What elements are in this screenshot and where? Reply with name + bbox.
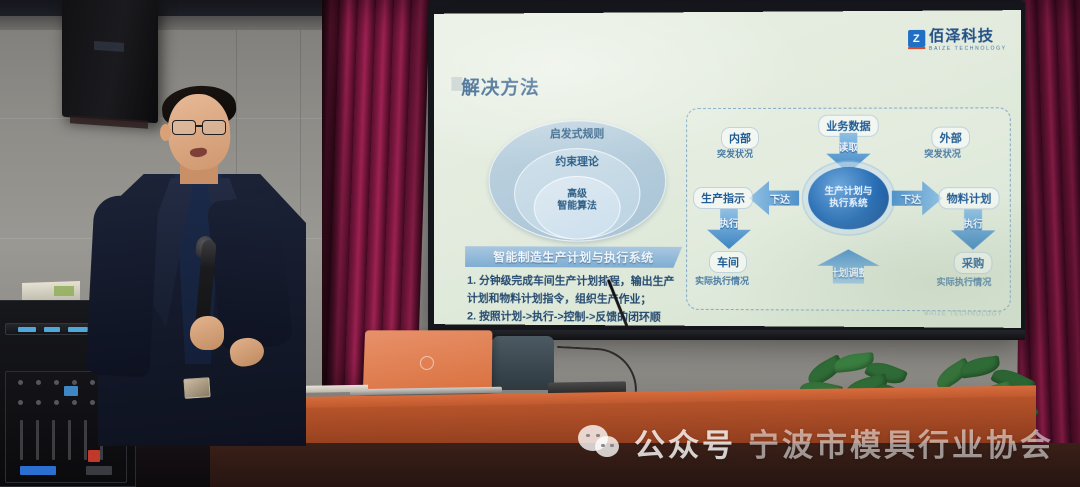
slide-title: 解决方法 xyxy=(461,73,539,100)
presenter-ear xyxy=(160,124,171,141)
slide-content: 解决方法 Z 佰泽科技 BAIZE TECHNOLOGY 启发式规则 约束理论 … xyxy=(434,10,1021,328)
logo-mark-icon: Z xyxy=(908,30,925,47)
flow-node-workshop: 车间 xyxy=(709,251,747,273)
logo-name-en: BAIZE TECHNOLOGY xyxy=(929,46,1007,52)
dell-logo-icon xyxy=(420,356,434,370)
green-item xyxy=(54,286,74,296)
flow-node-internal: 内部 xyxy=(721,127,759,149)
flow-arrow-plan-adjust: 计划调整 xyxy=(817,249,880,283)
logo-name-cn: 佰泽科技 xyxy=(929,27,994,45)
bullet-line: 1. 分钟级完成车间生产计划排程，输出生产 xyxy=(467,273,682,292)
flow-sub-external: 突发状况 xyxy=(924,147,961,160)
presenter-arm-left xyxy=(85,194,158,377)
chair-back xyxy=(492,336,554,390)
flow-center-node: 生产计划与 执行系统 xyxy=(808,167,889,229)
flow-node-production-instruction: 生产指示 xyxy=(693,187,753,209)
flow-node-purchasing: 采购 xyxy=(954,252,993,274)
led-indicator xyxy=(44,327,60,332)
flow-sub-purchasing: 实际执行情况 xyxy=(936,275,991,288)
laptop xyxy=(363,330,493,392)
flow-arrow-execute-left: 执行 xyxy=(707,209,751,249)
flow-sub-workshop: 实际执行情况 xyxy=(695,274,749,287)
concentric-circles-diagram: 启发式规则 约束理论 高级 智能算法 xyxy=(489,120,667,242)
circle-middle-label: 约束理论 xyxy=(555,149,598,169)
circle-outer-label: 启发式规则 xyxy=(550,121,604,141)
slide-corner-watermark: BAIZE TECHNOLOGY xyxy=(924,311,1002,318)
company-logo: Z 佰泽科技 BAIZE TECHNOLOGY xyxy=(908,24,1007,52)
eyeglasses xyxy=(172,120,230,135)
lens-left xyxy=(172,120,196,135)
section-banner-label: 智能制造生产计划与执行系统 xyxy=(493,248,653,265)
bullet-line: 2. 按照计划->执行->控制->反馈的闭环顺 xyxy=(467,308,682,327)
flow-sub-internal: 突发状况 xyxy=(717,147,753,160)
presentation-photo-scene: 解决方法 Z 佰泽科技 BAIZE TECHNOLOGY 启发式规则 约束理论 … xyxy=(0,0,1080,487)
flow-node-material-plan: 物料计划 xyxy=(938,187,999,209)
flow-node-external: 外部 xyxy=(931,127,970,149)
circle-inner-label: 高级 智能算法 xyxy=(557,177,596,212)
circle-inner: 高级 智能算法 xyxy=(534,176,621,240)
flow-diagram-panel: 业务数据 读取 内部 突发状况 外部 突发状况 生产计划与 执行系统 下达 下达… xyxy=(686,107,1011,311)
flow-arrow-execute-right: 执行 xyxy=(951,209,996,250)
presenter-hand-holding-mic xyxy=(190,316,224,350)
presenter-badge xyxy=(183,377,210,399)
podium-microphone xyxy=(556,348,640,392)
lens-right xyxy=(202,120,226,135)
flow-arrow-dispatch-right: 下达 xyxy=(892,181,943,215)
presenter xyxy=(84,86,336,446)
bullet-list: 1. 分钟级完成车间生产计划排程，输出生产 计划和物料计划指令，组织生产作业； … xyxy=(467,273,682,328)
projection-screen: 解决方法 Z 佰泽科技 BAIZE TECHNOLOGY 启发式规则 约束理论 … xyxy=(434,10,1021,328)
glasses-bridge xyxy=(196,125,203,127)
podium-body xyxy=(196,443,1080,487)
bullet-line: 计划和物料计划指令，组织生产作业； xyxy=(467,291,682,310)
speaker-badge xyxy=(94,41,124,52)
logo-text-block: 佰泽科技 BAIZE TECHNOLOGY xyxy=(929,24,1007,52)
led-indicator xyxy=(18,327,36,332)
section-banner: 智能制造生产计划与执行系统 xyxy=(465,246,682,268)
flow-arrow-dispatch-left: 下达 xyxy=(749,181,799,215)
